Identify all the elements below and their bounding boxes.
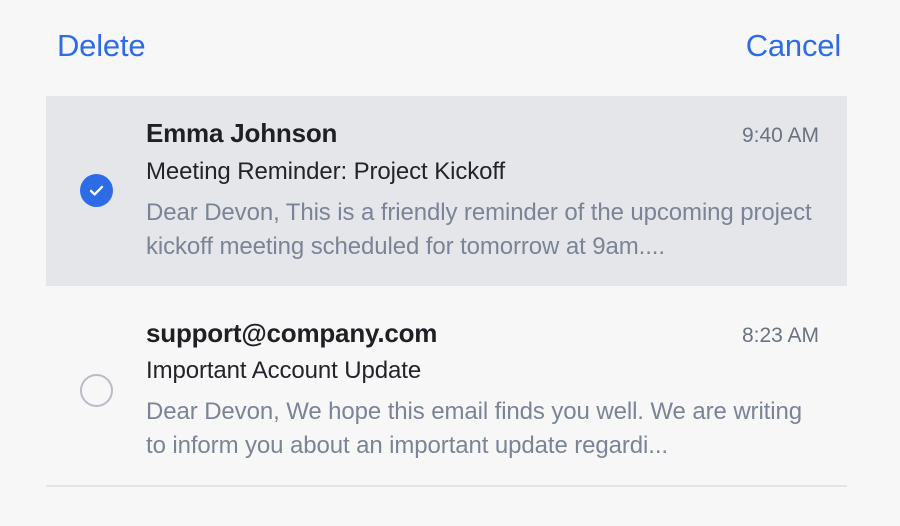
email-list-item-0[interactable]: Emma Johnson 9:40 AM Meeting Reminder: P… bbox=[46, 96, 847, 286]
toolbar: Delete Cancel bbox=[0, 0, 900, 90]
cancel-button[interactable]: Cancel bbox=[746, 30, 841, 61]
email-preview: Dear Devon, We hope this email finds you… bbox=[146, 395, 819, 463]
delete-button[interactable]: Delete bbox=[57, 30, 145, 61]
email-header-1: support@company.com 8:23 AM bbox=[146, 318, 819, 349]
email-selection-screen: Delete Cancel Emma Johnson 9:40 AM bbox=[0, 0, 900, 526]
email-list: Emma Johnson 9:40 AM Meeting Reminder: P… bbox=[46, 96, 847, 487]
email-subject: Important Account Update bbox=[146, 357, 819, 386]
list-divider bbox=[46, 485, 847, 487]
email-content-1: support@company.com 8:23 AM Important Ac… bbox=[146, 318, 847, 464]
email-header-0: Emma Johnson 9:40 AM bbox=[146, 118, 819, 149]
email-timestamp: 9:40 AM bbox=[726, 124, 819, 149]
email-sender: Emma Johnson bbox=[146, 118, 337, 149]
selection-control-0[interactable] bbox=[46, 118, 146, 264]
check-circle-filled-icon[interactable] bbox=[80, 174, 113, 207]
email-preview: Dear Devon, This is a friendly reminder … bbox=[146, 196, 819, 264]
email-list-item-1[interactable]: support@company.com 8:23 AM Important Ac… bbox=[46, 296, 847, 486]
email-content-0: Emma Johnson 9:40 AM Meeting Reminder: P… bbox=[146, 118, 847, 264]
email-timestamp: 8:23 AM bbox=[726, 324, 819, 349]
email-sender: support@company.com bbox=[146, 318, 437, 349]
list-gap bbox=[46, 286, 847, 296]
selection-control-1[interactable] bbox=[46, 318, 146, 464]
email-subject: Meeting Reminder: Project Kickoff bbox=[146, 158, 819, 187]
circle-outline-icon[interactable] bbox=[80, 374, 113, 407]
